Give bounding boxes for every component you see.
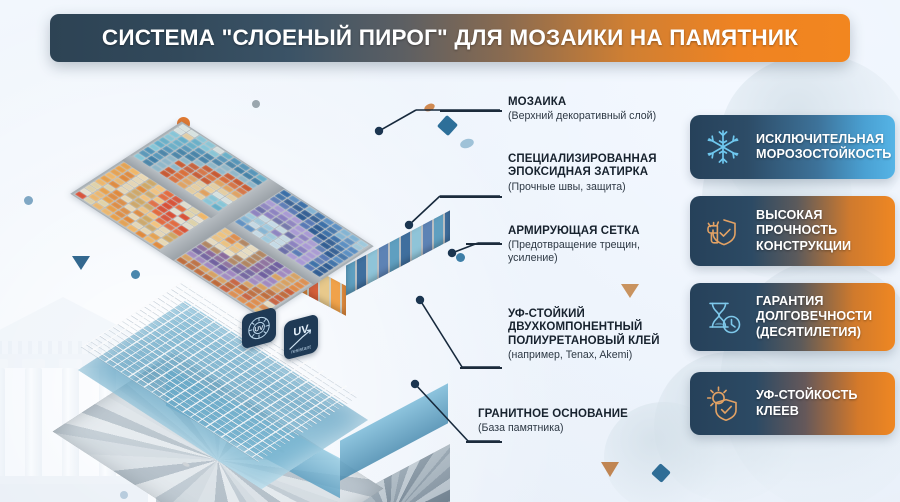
callout-title: ГРАНИТНОЕ ОСНОВАНИЕ [478, 408, 678, 421]
feature-durability-guarantee[interactable]: ГАРАНТИЯ ДОЛГОВЕЧНОСТИ (ДЕСЯТИЛЕТИЯ) [690, 283, 895, 351]
callout-rule [466, 441, 502, 443]
callout-rule [440, 110, 502, 112]
callout-rule [440, 196, 502, 198]
callout-subtitle: (Прочные швы, защита) [508, 181, 698, 194]
callout-title: СПЕЦИАЛИЗИРОВАННАЯ ЭПОКСИДНАЯ ЗАТИРКА [508, 153, 698, 180]
callout-subtitle: (База памятника) [478, 422, 678, 435]
callout-title: МОЗАИКА [508, 96, 698, 109]
page-title: СИСТЕМА "СЛОЕНЫЙ ПИРОГ" ДЛЯ МОЗАИКИ НА П… [102, 25, 798, 51]
feature-frost-resistance[interactable]: ИСКЛЮЧИТЕЛЬНАЯ МОРОЗОСТОЙКОСТЬ [690, 115, 895, 179]
feature-structural-strength[interactable]: ВЫСОКАЯ ПРОЧНОСТЬ КОНСТРУКЦИИ [690, 196, 895, 266]
callout-title: УФ-СТОЙКИЙ ДВУХКОМПОНЕНТНЫЙ ПОЛИУРЕТАНОВ… [508, 308, 698, 348]
callout-reinforcing-mesh: АРМИРУЮЩАЯ СЕТКА (Предотвращение трещин,… [508, 225, 698, 265]
callout-pu-adhesive: УФ-СТОЙКИЙ ДВУХКОМПОНЕНТНЫЙ ПОЛИУРЕТАНОВ… [508, 308, 698, 362]
hourglass-clock-icon [700, 294, 746, 340]
decor-triangle [621, 284, 639, 298]
infographic-canvas: СИСТЕМА "СЛОЕНЫЙ ПИРОГ" ДЛЯ МОЗАИКИ НА П… [0, 0, 900, 502]
callout-title: АРМИРУЮЩАЯ СЕТКА [508, 225, 698, 238]
uv-resistant-label: UV [293, 323, 309, 339]
callout-rule [460, 367, 502, 369]
callout-subtitle: (например, Tenax, Akemi) [508, 349, 698, 362]
feature-label: ИСКЛЮЧИТЕЛЬНАЯ МОРОЗОСТОЙКОСТЬ [756, 132, 891, 162]
callout-subtitle: (Предотвращение трещин, усиление) [508, 239, 698, 265]
callout-granite-base: ГРАНИТНОЕ ОСНОВАНИЕ (База памятника) [478, 408, 678, 435]
callout-mosaic: МОЗАИКА (Верхний декоративный слой) [508, 96, 698, 123]
title-banner: СИСТЕМА "СЛОЕНЫЙ ПИРОГ" ДЛЯ МОЗАИКИ НА П… [50, 14, 850, 62]
callout-rule [466, 243, 502, 245]
callout-epoxy-grout: СПЕЦИАЛИЗИРОВАННАЯ ЭПОКСИДНАЯ ЗАТИРКА (П… [508, 153, 698, 194]
fist-shield-icon [700, 208, 746, 254]
feature-label: ВЫСОКАЯ ПРОЧНОСТЬ КОНСТРУКЦИИ [756, 208, 851, 254]
feature-label: ГАРАНТИЯ ДОЛГОВЕЧНОСТИ (ДЕСЯТИЛЕТИЯ) [756, 294, 872, 340]
decor-triangle [601, 462, 619, 477]
feature-uv-resistance-adhesive[interactable]: УФ-СТОЙКОСТЬ КЛЕЕВ [690, 372, 895, 435]
uv-sun-label: UV [255, 324, 265, 333]
layer-stack-illustration [10, 92, 480, 482]
callout-subtitle: (Верхний декоративный слой) [508, 110, 698, 123]
feature-label: УФ-СТОЙКОСТЬ КЛЕЕВ [756, 388, 858, 418]
snowflake-icon [700, 124, 746, 170]
uv-resistant-caption: resistant [291, 344, 311, 355]
sun-shield-icon [700, 381, 746, 427]
mosaic-tile-layer [94, 108, 444, 338]
